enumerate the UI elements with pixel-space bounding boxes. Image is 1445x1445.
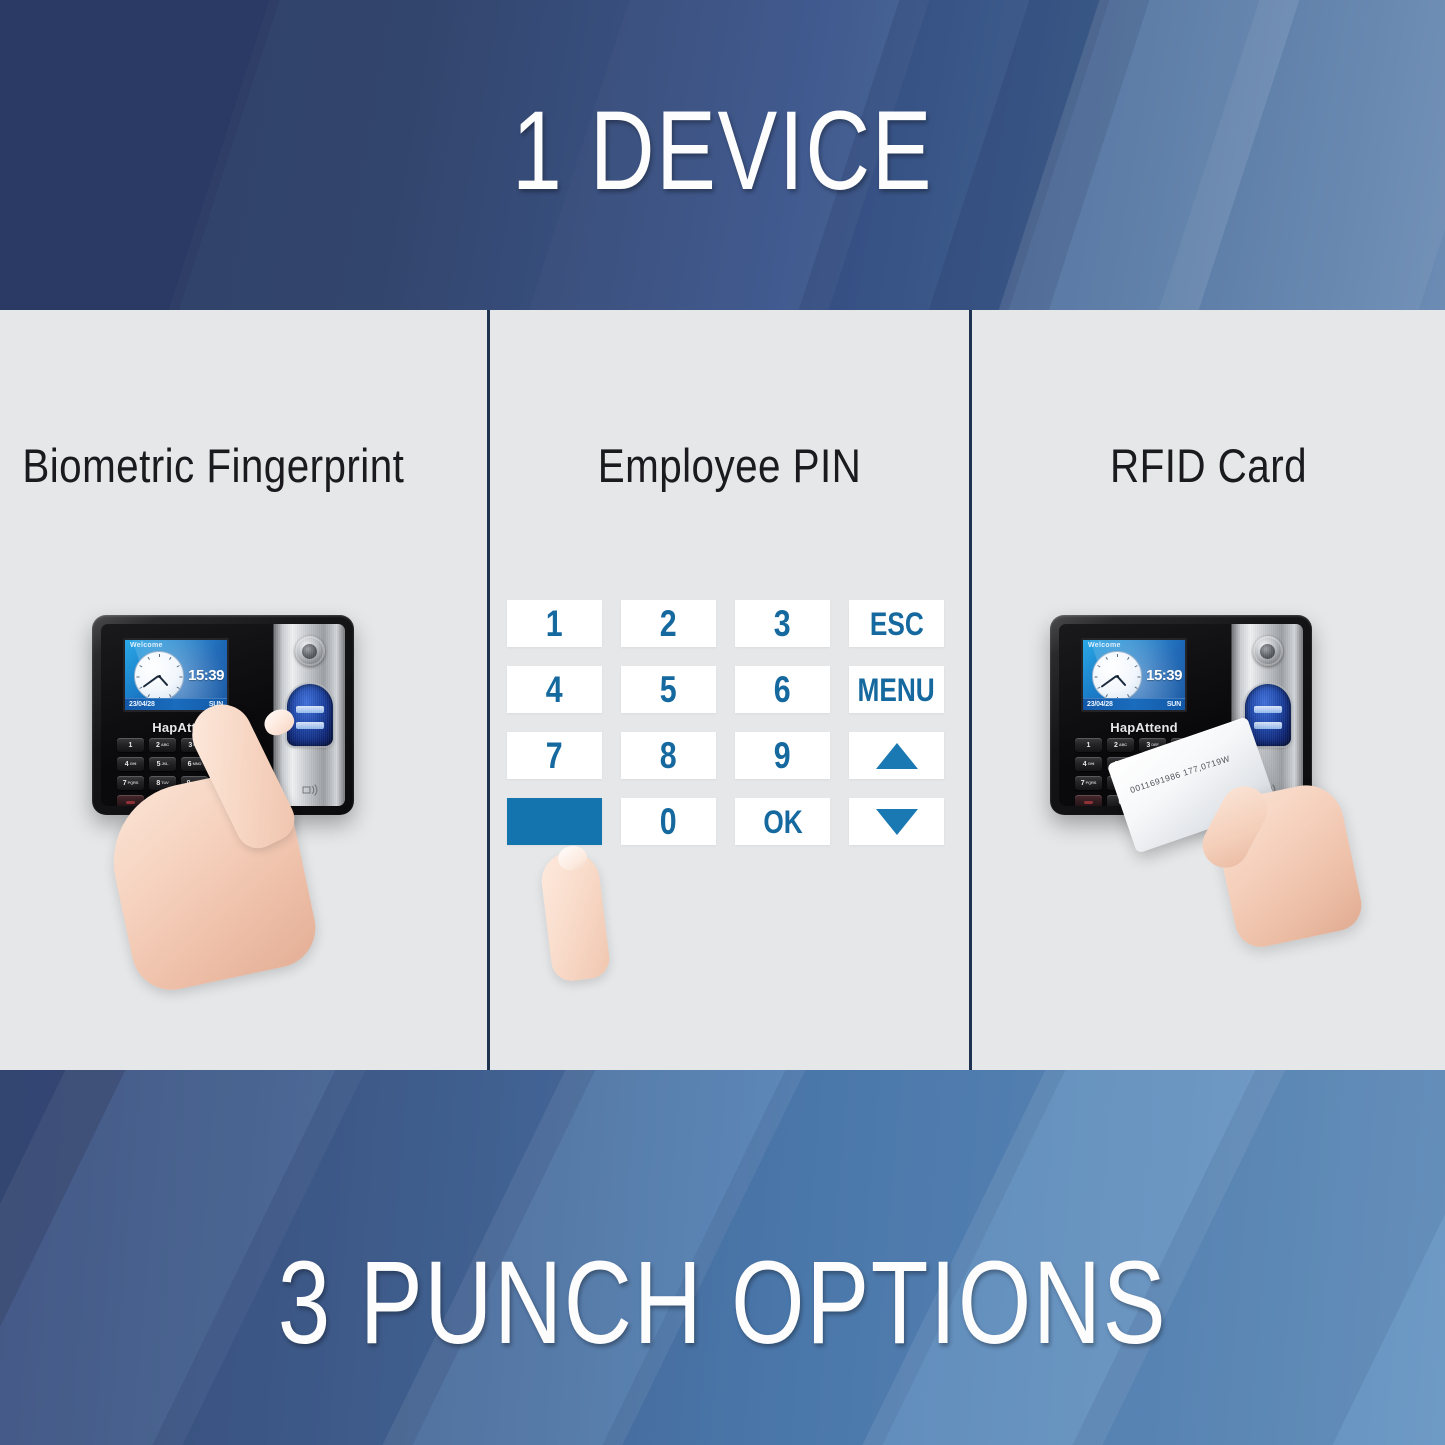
arrow-down-icon <box>876 809 918 835</box>
column-employee-pin: Employee PIN 1 2 3 ESC 4 5 6 MENU 7 8 9 <box>487 310 972 1072</box>
pin-keypad-grid: 1 2 3 ESC 4 5 6 MENU 7 8 9 0 OK <box>507 600 977 845</box>
pin-key-up-arrow-icon[interactable] <box>849 732 944 779</box>
device-key-label: 8 <box>156 780 160 787</box>
camera-lens-icon <box>1260 644 1275 659</box>
device-key-1[interactable]: 1 <box>1075 738 1102 752</box>
device-key-1[interactable]: 1 <box>117 738 144 752</box>
power-indicator-icon <box>1084 801 1093 804</box>
pin-key-label: ESC <box>870 608 924 640</box>
lcd-digital-time: 15:39 <box>1146 667 1182 684</box>
device-key-label: 4 <box>125 761 129 768</box>
pin-key-menu[interactable]: MENU <box>849 666 944 713</box>
device-key-label: 4 <box>1083 761 1087 768</box>
pin-key-label: 9 <box>774 737 790 774</box>
device-lcd-screen: Welcome <box>1081 638 1187 712</box>
camera-icon <box>1253 636 1283 666</box>
column-biometric-fingerprint: Biometric Fingerprint Welcome <box>0 310 487 1072</box>
device-key-4[interactable]: 4GHI <box>117 757 144 771</box>
bottom-banner-title: 3 PUNCH OPTIONS <box>145 1235 1301 1371</box>
device-key-4[interactable]: 4GHI <box>1075 757 1102 771</box>
pin-key-label: 7 <box>546 737 562 774</box>
pin-key-0[interactable]: 0 <box>621 798 716 845</box>
top-banner: 1 DEVICE <box>0 0 1445 312</box>
device-key-label: 2 <box>156 742 160 749</box>
pin-key-label: MENU <box>858 674 935 706</box>
device-key-label: 2 <box>1114 742 1118 749</box>
device-key-sublabel: TUV <box>161 781 168 785</box>
pin-keypad-graphic: 1 2 3 ESC 4 5 6 MENU 7 8 9 0 OK <box>498 600 977 845</box>
pin-key-2[interactable]: 2 <box>621 600 716 647</box>
pin-key-ok[interactable]: OK <box>735 798 830 845</box>
pin-key-3[interactable]: 3 <box>735 600 830 647</box>
device-key-sublabel: PQRS <box>1086 781 1097 785</box>
device-key-sublabel: GHI <box>1088 762 1095 766</box>
top-banner-title: 1 DEVICE <box>145 86 1301 215</box>
pin-key-6[interactable]: 6 <box>735 666 830 713</box>
lcd-welcome-text: Welcome <box>130 642 163 649</box>
device-key-power[interactable] <box>1075 795 1102 806</box>
lcd-welcome-text: Welcome <box>1088 642 1121 649</box>
power-indicator-icon <box>126 801 135 804</box>
arrow-up-icon <box>876 743 918 769</box>
fingerprint-sensor[interactable] <box>287 684 333 746</box>
pin-key-esc[interactable]: ESC <box>849 600 944 647</box>
rfid-wave-icon <box>302 783 318 797</box>
device-key-label: 5 <box>157 761 161 768</box>
lcd-status-bar: 23/04/28 SUN <box>1083 698 1185 710</box>
pin-key-1[interactable]: 1 <box>507 600 602 647</box>
device-key-2[interactable]: 2ABC <box>149 738 176 752</box>
fingerprint-scan-bar <box>1254 706 1282 713</box>
infographic-page: 1 DEVICE Biometric Fingerprint Welcome <box>0 0 1445 1445</box>
device-key-label: 7 <box>123 780 127 787</box>
device-key-sublabel: GHI <box>130 762 137 766</box>
pin-key-label: 6 <box>774 671 790 708</box>
pin-key-7[interactable]: 7 <box>507 732 602 779</box>
pin-key-8[interactable]: 8 <box>621 732 716 779</box>
pin-key-label: 1 <box>546 605 562 642</box>
device-key-label: 1 <box>1087 742 1091 749</box>
column-title-rfid: RFID Card <box>1005 438 1412 493</box>
pin-key-label: 2 <box>660 605 676 642</box>
device-key-label: 7 <box>1081 780 1085 787</box>
device-key-sublabel: MNO <box>193 762 202 766</box>
lcd-day: SUN <box>1167 701 1181 708</box>
fingerprint-scan-bar <box>296 722 324 729</box>
pin-key-pressed[interactable] <box>507 798 602 845</box>
device-key-7[interactable]: 7PQRS <box>1075 776 1102 790</box>
device-key-label: 3 <box>1146 742 1150 749</box>
device-key-label: 6 <box>188 761 192 768</box>
device-key-sublabel: JKL <box>161 762 168 766</box>
device-lcd-screen: Welcome <box>123 638 229 712</box>
pin-key-label: OK <box>763 806 802 838</box>
device-key-label: 1 <box>129 742 133 749</box>
options-panel: Biometric Fingerprint Welcome <box>0 310 1445 1072</box>
device-key-2[interactable]: 2ABC <box>1107 738 1134 752</box>
device-key-5[interactable]: 5JKL <box>149 757 176 771</box>
column-title-employee-pin: Employee PIN <box>524 438 936 493</box>
pin-key-down-arrow-icon[interactable] <box>849 798 944 845</box>
camera-lens-icon <box>302 644 317 659</box>
clock-center-pin <box>158 675 161 678</box>
device-key-sublabel: ABC <box>1119 743 1127 747</box>
device-key-label: 3 <box>188 742 192 749</box>
lcd-digital-time: 15:39 <box>188 667 224 684</box>
pin-key-label: 5 <box>660 671 676 708</box>
clock-center-pin <box>1116 675 1119 678</box>
pin-key-label: 4 <box>546 671 562 708</box>
pin-key-4[interactable]: 4 <box>507 666 602 713</box>
fingerprint-scan-bar <box>1254 722 1282 729</box>
lcd-date: 23/04/28 <box>1087 701 1113 708</box>
pin-key-label: 3 <box>774 605 790 642</box>
device-key-sublabel: PQRS <box>128 781 139 785</box>
lcd-analog-clock <box>1092 651 1142 701</box>
column-rfid-card: RFID Card Welcome <box>972 310 1445 1072</box>
bottom-banner: 3 PUNCH OPTIONS <box>0 1070 1445 1445</box>
lcd-analog-clock <box>134 651 184 701</box>
camera-icon <box>295 636 325 666</box>
fingerprint-scan-bar <box>296 706 324 713</box>
pin-key-label: 0 <box>660 803 676 840</box>
lcd-date: 23/04/28 <box>129 701 155 708</box>
device-key-7[interactable]: 7PQRS <box>117 776 144 790</box>
device-key-sublabel: ABC <box>161 743 169 747</box>
column-title-biometric: Biometric Fingerprint <box>0 438 419 493</box>
pin-key-9[interactable]: 9 <box>735 732 830 779</box>
pin-key-label: 8 <box>660 737 676 774</box>
pin-key-5[interactable]: 5 <box>621 666 716 713</box>
